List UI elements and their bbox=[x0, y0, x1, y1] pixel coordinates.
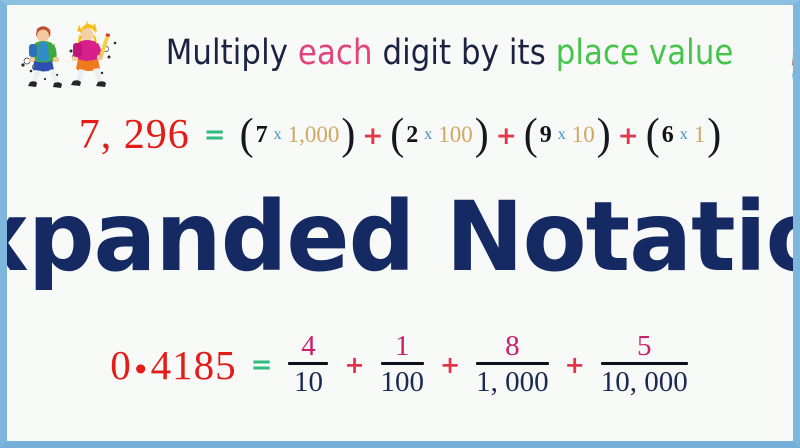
plus-sign-bottom-1: + bbox=[344, 351, 364, 379]
term-digit: 7 bbox=[254, 122, 270, 149]
term-place-value: 1,000 bbox=[286, 122, 342, 148]
poster-header: Multiply each digit by its place value k… bbox=[7, 13, 793, 93]
close-paren-icon: ) bbox=[597, 113, 611, 157]
svg-text:Lessons Made Easy: Lessons Made Easy bbox=[791, 60, 800, 67]
term-digit: 6 bbox=[660, 122, 676, 149]
open-paren-icon: ( bbox=[240, 113, 254, 157]
multiply-icon: x bbox=[554, 126, 570, 144]
fraction-thousandths: 8 1, 000 bbox=[476, 331, 549, 399]
plus-sign-bottom-3: + bbox=[565, 351, 585, 379]
equals-sign-top: = bbox=[204, 120, 226, 150]
lessons-made-easy-globe-logo: knowledge is fun Lessons Made Easy bbox=[772, 13, 800, 93]
multiply-icon: x bbox=[676, 126, 692, 144]
expanded-notation-poster: Multiply each digit by its place value k… bbox=[0, 0, 800, 448]
multiply-icon: x bbox=[420, 126, 436, 144]
open-paren-icon: ( bbox=[390, 113, 404, 157]
fraction-numerator: 4 bbox=[301, 331, 316, 362]
fraction-numerator: 1 bbox=[395, 331, 410, 362]
decimal-number-value: 0•4185 bbox=[110, 341, 236, 389]
plus-sign-top-3: + bbox=[618, 121, 639, 150]
multiply-icon: x bbox=[270, 126, 286, 144]
term-place-value: 100 bbox=[436, 122, 475, 148]
fraction-denominator: 10, 000 bbox=[601, 365, 688, 398]
close-paren-icon: ) bbox=[475, 113, 489, 157]
fraction-denominator: 1, 000 bbox=[476, 365, 549, 398]
expanded-term-tens: ( 9 x 10 ) bbox=[524, 114, 611, 156]
title-word-each: each bbox=[298, 33, 383, 73]
whole-number-equation: 7, 296 = ( 7 x 1,000 ) + ( 2 x 100 ) + (… bbox=[7, 105, 793, 165]
close-paren-icon: ) bbox=[707, 113, 721, 157]
fraction-denominator: 100 bbox=[381, 365, 425, 398]
term-place-value: 1 bbox=[692, 122, 708, 148]
two-children-walking-clipart bbox=[9, 13, 127, 93]
open-paren-icon: ( bbox=[524, 113, 538, 157]
plus-sign-bottom-2: + bbox=[440, 351, 460, 379]
title-word-digit-by-its: digit by its bbox=[382, 33, 555, 73]
term-place-value: 10 bbox=[570, 122, 597, 148]
fraction-tenths: 4 10 bbox=[288, 331, 328, 399]
equals-sign-bottom: = bbox=[251, 350, 273, 380]
expanded-term-thousands: ( 7 x 1,000 ) bbox=[240, 114, 356, 156]
headline-expanded-notation: Expanded Notation bbox=[19, 181, 781, 293]
fraction-ten-thousandths: 5 10, 000 bbox=[601, 331, 688, 399]
open-paren-icon: ( bbox=[646, 113, 660, 157]
page-title: Multiply each digit by its place value bbox=[166, 33, 734, 73]
decimal-whole-part: 0 bbox=[110, 342, 132, 388]
term-digit: 2 bbox=[404, 122, 420, 149]
close-paren-icon: ) bbox=[341, 113, 355, 157]
plus-sign-top-1: + bbox=[362, 121, 383, 150]
plus-sign-top-2: + bbox=[496, 121, 517, 150]
fraction-hundredths: 1 100 bbox=[381, 331, 425, 399]
fraction-numerator: 8 bbox=[505, 331, 520, 362]
fraction-numerator: 5 bbox=[637, 331, 652, 362]
expanded-term-hundreds: ( 2 x 100 ) bbox=[390, 114, 489, 156]
fraction-denominator: 10 bbox=[294, 365, 323, 398]
title-word-place-value: place value bbox=[556, 33, 734, 73]
title-word-multiply: Multiply bbox=[166, 33, 298, 73]
decimal-point-icon: • bbox=[132, 351, 151, 388]
term-digit: 9 bbox=[538, 122, 554, 149]
decimal-fraction-part: 4185 bbox=[151, 342, 237, 388]
whole-number-value: 7, 296 bbox=[79, 111, 190, 159]
decimal-equation: 0•4185 = 4 10 + 1 100 + 8 1, 000 + 5 10,… bbox=[7, 313, 793, 417]
expanded-term-ones: ( 6 x 1 ) bbox=[646, 114, 722, 156]
